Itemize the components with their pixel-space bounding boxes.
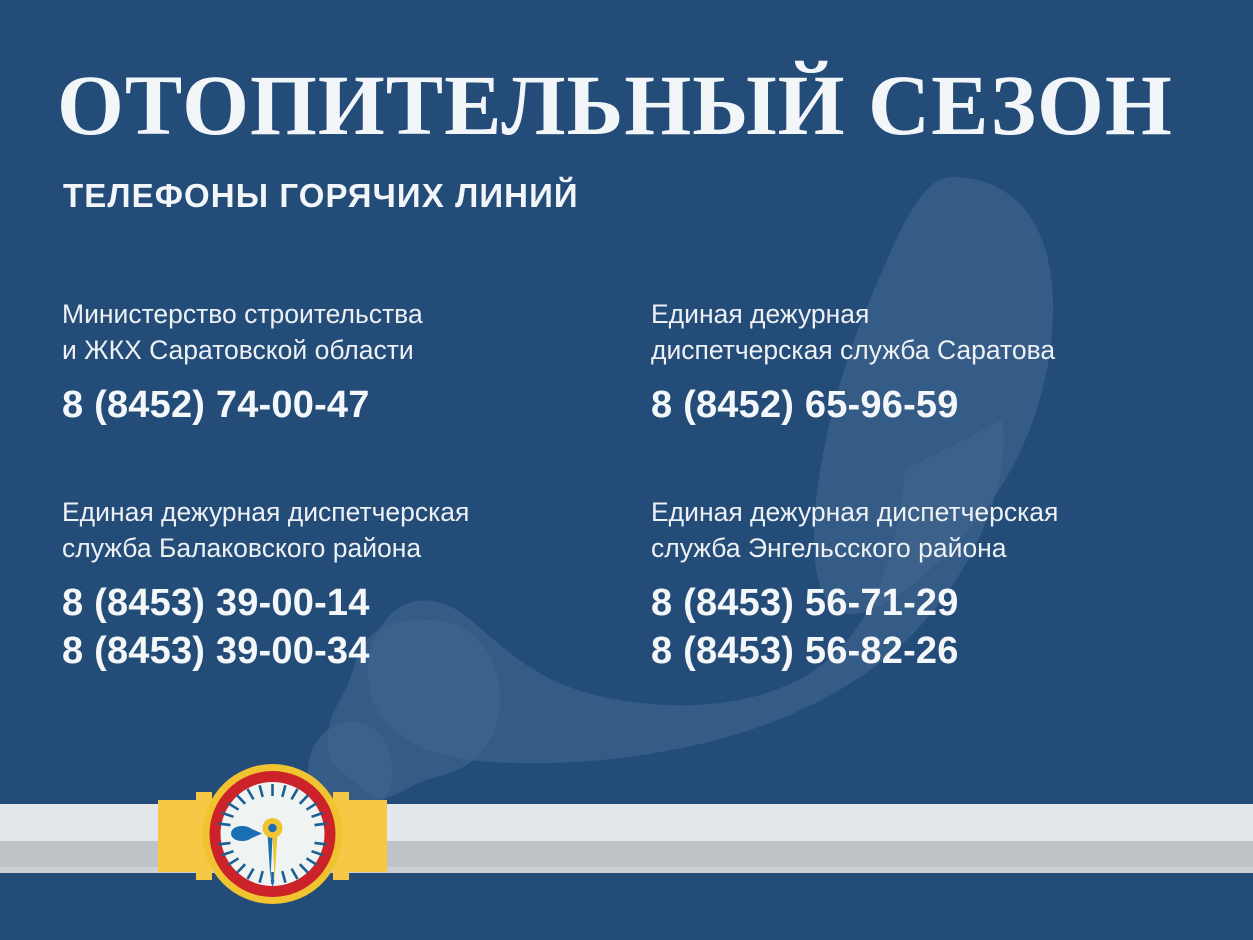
contact-org-line: Единая дежурная диспетчерская <box>62 494 622 530</box>
phone-number[interactable]: 8 (8453) 56-82-26 <box>651 627 1221 675</box>
poster-canvas: ОТОПИТЕЛЬНЫЙ СЕЗОН ТЕЛЕФОНЫ ГОРЯЧИХ ЛИНИ… <box>0 0 1253 940</box>
contact-numbers: 8 (8453) 56-71-29 8 (8453) 56-82-26 <box>651 579 1221 675</box>
page-subtitle: ТЕЛЕФОНЫ ГОРЯЧИХ ЛИНИЙ <box>63 179 579 212</box>
phone-number[interactable]: 8 (8452) 74-00-47 <box>62 381 622 429</box>
water-meter-gauge-icon <box>150 756 395 916</box>
phone-number[interactable]: 8 (8453) 39-00-34 <box>62 627 622 675</box>
contact-org-line: диспетчерская служба Саратова <box>651 332 1221 368</box>
contact-numbers: 8 (8452) 74-00-47 <box>62 381 622 429</box>
contact-org-line: Единая дежурная <box>651 296 1221 332</box>
contact-org-line: Министерство строительства <box>62 296 622 332</box>
contacts-grid: Министерство строительства и ЖКХ Саратов… <box>0 296 1253 736</box>
contact-entry-balakovo: Единая дежурная диспетчерская служба Бал… <box>62 494 622 675</box>
contact-org-line: служба Балаковского района <box>62 530 622 566</box>
contact-org-line: Единая дежурная диспетчерская <box>651 494 1221 530</box>
phone-number[interactable]: 8 (8453) 56-71-29 <box>651 579 1221 627</box>
contact-numbers: 8 (8452) 65-96-59 <box>651 381 1221 429</box>
contact-entry-engels: Единая дежурная диспетчерская служба Энг… <box>651 494 1221 675</box>
phone-number[interactable]: 8 (8452) 65-96-59 <box>651 381 1221 429</box>
contact-entry-ministry: Министерство строительства и ЖКХ Саратов… <box>62 296 622 429</box>
contact-org-line: служба Энгельсского района <box>651 530 1221 566</box>
contact-entry-saratov: Единая дежурная диспетчерская служба Сар… <box>651 296 1221 429</box>
phone-number[interactable]: 8 (8453) 39-00-14 <box>62 579 622 627</box>
contact-org-line: и ЖКХ Саратовской области <box>62 332 622 368</box>
contact-numbers: 8 (8453) 39-00-14 8 (8453) 39-00-34 <box>62 579 622 675</box>
page-title: ОТОПИТЕЛЬНЫЙ СЕЗОН <box>57 62 1173 148</box>
